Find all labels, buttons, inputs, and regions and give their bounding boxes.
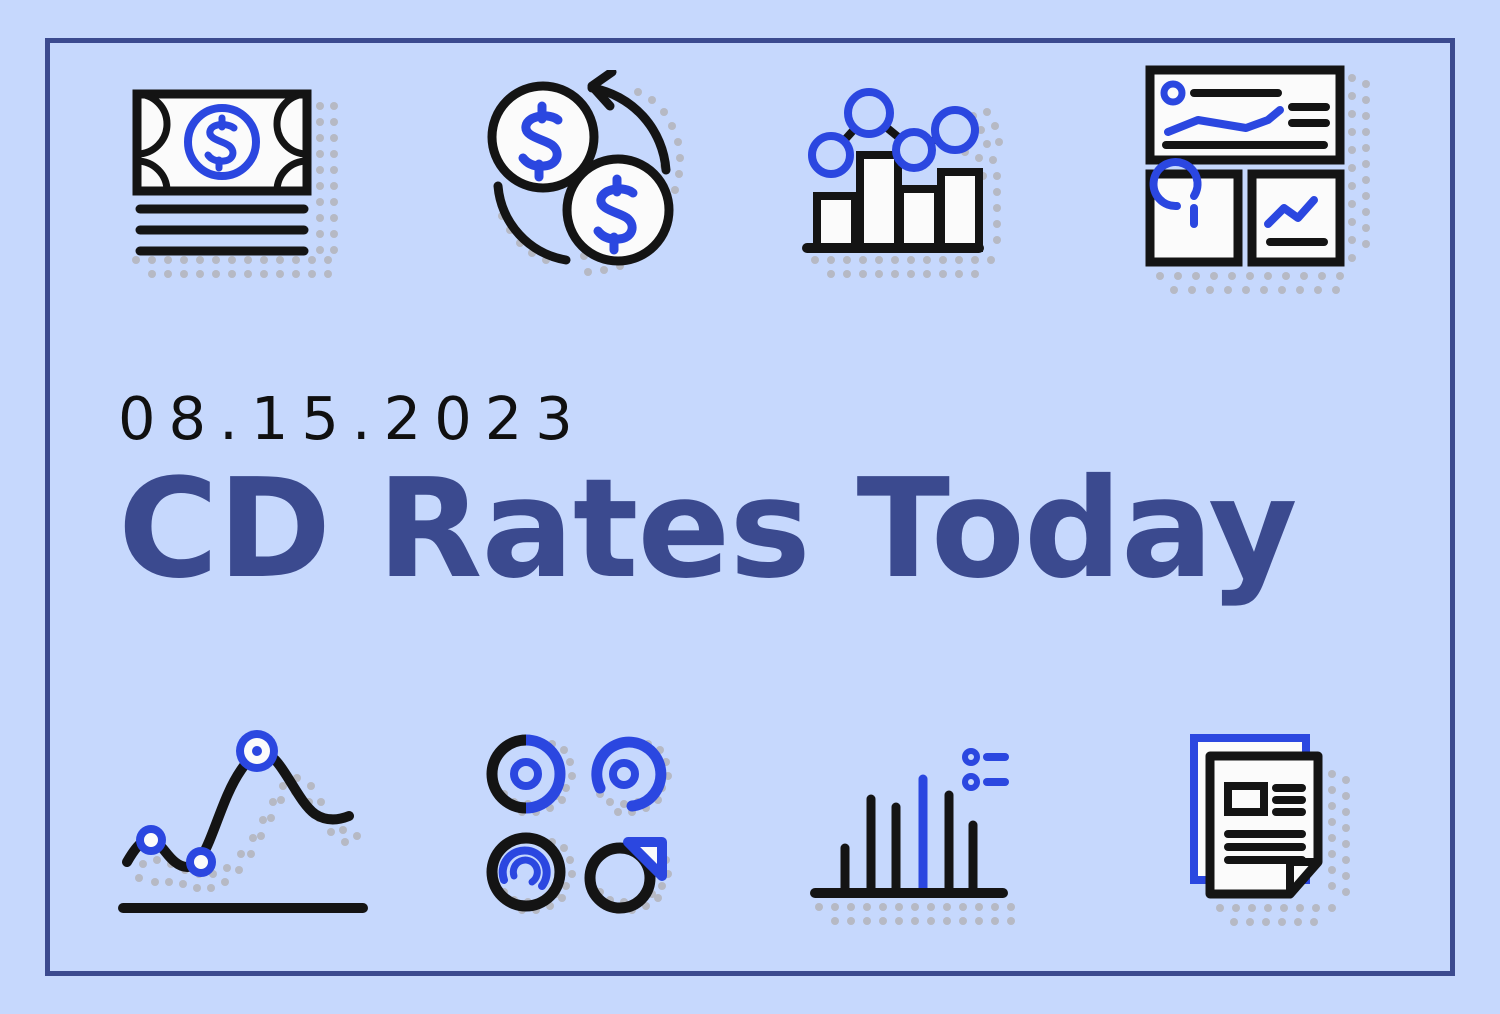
- dashboard-icon: [1130, 58, 1380, 308]
- dashboard-panel-line: [1252, 174, 1340, 262]
- page-title: CD Rates Today: [118, 456, 1238, 604]
- pie-exploded-slice: [590, 842, 662, 908]
- histogram-bars: [845, 779, 973, 891]
- document-front-page: [1210, 756, 1318, 894]
- donut-charts-icon: [480, 730, 680, 930]
- histogram-legend: [962, 748, 1005, 791]
- histogram-dot-shadow: [815, 903, 1015, 925]
- donut-half-split: [492, 740, 560, 808]
- dashboard-panel-gauge: [1150, 162, 1238, 262]
- line-graph-icon: [105, 722, 390, 927]
- currency-exchange-icon: [470, 70, 700, 295]
- banknote-icon: [112, 72, 352, 292]
- dashboard-panel-top: [1150, 70, 1340, 160]
- coin-bottom: [567, 159, 669, 261]
- donut-spiral: [492, 838, 560, 906]
- donut-arc-open: [597, 742, 661, 806]
- headline-block: 08.15.2023 CD Rates Today: [118, 388, 1238, 604]
- document-icon: [1180, 728, 1375, 943]
- linegraph-dot-shadow: [135, 774, 361, 892]
- headline-date: 08.15.2023: [118, 388, 1238, 450]
- bar-line-chart-icon: [795, 82, 1020, 287]
- histogram-icon: [805, 735, 1035, 940]
- poster-canvas: 08.15.2023 CD Rates Today: [0, 0, 1500, 1014]
